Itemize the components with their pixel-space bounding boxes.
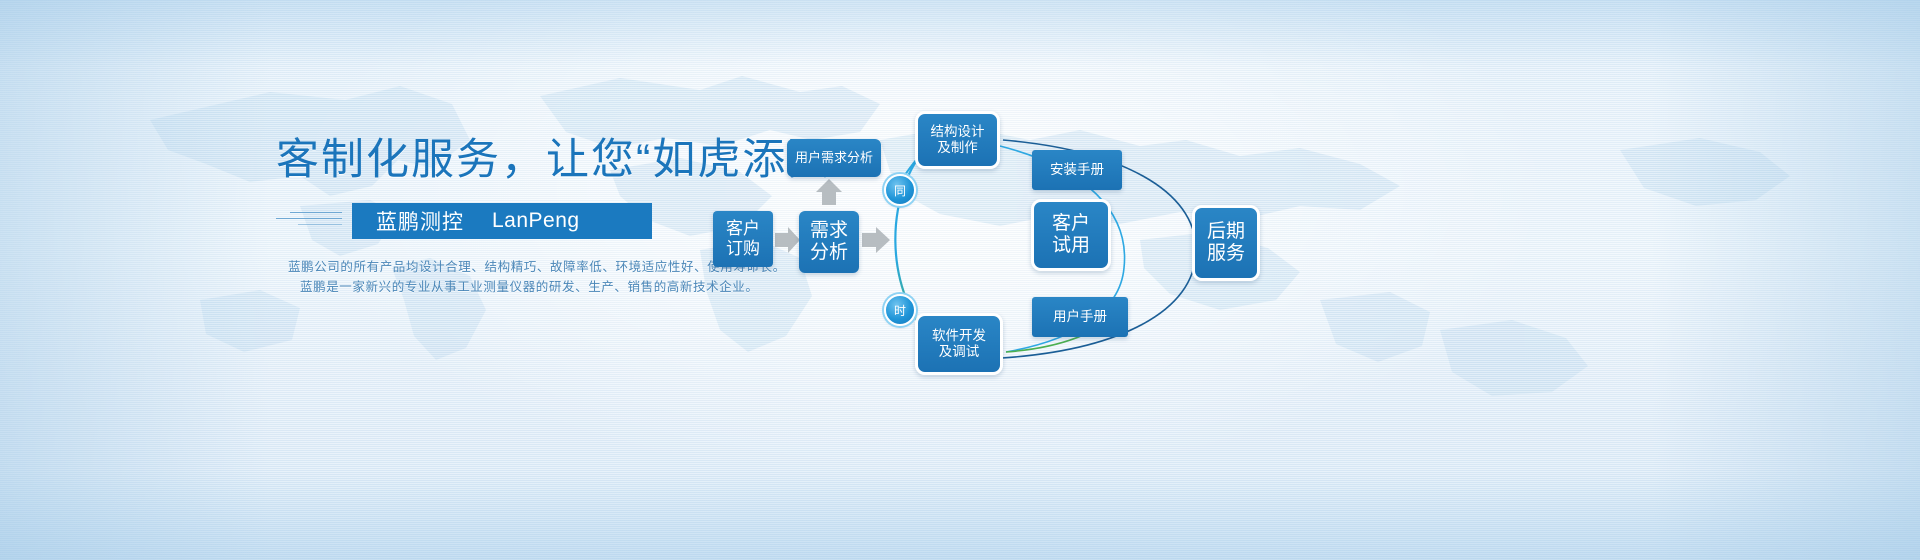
flow-node-label: 试用 (1052, 235, 1090, 257)
cycle-badge-label: 时 (894, 302, 906, 319)
flow-node-label: 及制作 (931, 140, 985, 156)
flow-node-kehu-shiyong[interactable]: 客户 试用 (1031, 199, 1111, 271)
flow-node-label: 结构设计 (931, 124, 985, 140)
brand-row: 蓝鹏测控 LanPeng (276, 203, 676, 239)
page-title: 客制化服务，让您“如虎添翼” (276, 139, 849, 182)
cycle-badge-shi: 时 (884, 294, 916, 326)
flow-node-label: 需求 (810, 220, 848, 242)
flow-node-label: 后期 (1207, 221, 1245, 243)
flow-node-yonghu-shouce[interactable]: 用户手册 (1032, 297, 1128, 337)
flow-node-ruanjian-kaifa[interactable]: 软件开发 及调试 (915, 313, 1003, 375)
flow-node-jiegou-sheji[interactable]: 结构设计 及制作 (915, 111, 1000, 169)
flow-node-xuqiu-fenxi[interactable]: 需求 分析 (799, 211, 859, 273)
brand-bar: 蓝鹏测控 LanPeng (352, 203, 652, 239)
flow-node-label: 订购 (726, 239, 760, 259)
cycle-badge-tong: 同 (884, 174, 916, 206)
arrow-order-to-analysis (775, 227, 800, 253)
flow-node-kehu-dinggou[interactable]: 客户 订购 (713, 211, 773, 267)
flow-node-anzhuang-shouce[interactable]: 安装手册 (1032, 150, 1122, 190)
subtitle-line-1: 蓝鹏公司的所有产品均设计合理、结构精巧、故障率低、环境适应性好、使用寿命长。 (288, 256, 786, 275)
flow-node-label: 用户手册 (1053, 309, 1107, 325)
banner-stage: 客制化服务，让您“如虎添翼” 蓝鹏测控 LanPeng 蓝鹏公司的所有产品均设计… (0, 0, 1920, 560)
cycle-badge-label: 同 (894, 182, 906, 199)
flow-node-label: 用户需求分析 (795, 150, 873, 165)
arrow-analysis-to-cycle (862, 227, 890, 253)
flow-node-label: 分析 (810, 242, 848, 264)
brand-name-cn: 蓝鹏测控 (376, 206, 464, 236)
brand-name-en: LanPeng (492, 209, 580, 233)
subtitle-line-2: 蓝鹏是一家新兴的专业从事工业测量仪器的研发、生产、销售的高新技术企业。 (300, 276, 759, 295)
decorative-lines (276, 212, 342, 230)
flow-connectors (0, 0, 1920, 560)
flow-node-label: 服务 (1207, 243, 1245, 265)
flow-node-houqi-fuwu[interactable]: 后期 服务 (1192, 205, 1260, 281)
flow-node-label: 安装手册 (1050, 162, 1104, 178)
flow-node-label: 客户 (726, 219, 760, 239)
flow-node-yonghu-xuqiu-fenxi[interactable]: 用户需求分析 (787, 139, 881, 177)
flow-node-label: 客户 (1052, 213, 1090, 235)
flow-node-label: 及调试 (932, 344, 986, 360)
flow-node-label: 软件开发 (932, 328, 986, 344)
